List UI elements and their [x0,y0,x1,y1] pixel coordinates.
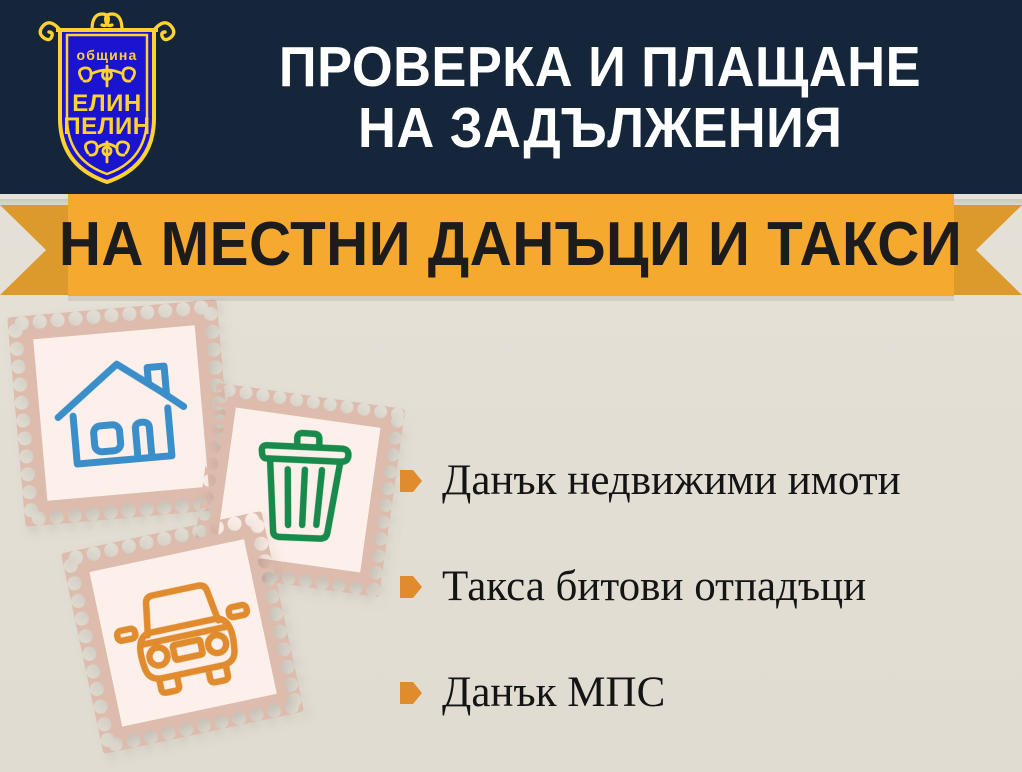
arrow-bullet-icon [400,574,422,600]
header-banner: община ЕЛИН ПЕЛИН [0,0,1022,194]
municipality-logo: община ЕЛИН ПЕЛИН [34,8,180,188]
page-title-line-2: НА ЗАДЪЛЖЕНИЯ [358,98,842,159]
subtitle-ribbon: НА МЕСТНИ ДАНЪЦИ И ТАКСИ [0,194,1022,310]
poster-canvas: община ЕЛИН ПЕЛИН [0,0,1022,772]
coat-of-arms-shield-icon: община ЕЛИН ПЕЛИН [34,8,180,188]
list-item[interactable]: Данък МПС [400,640,1010,746]
list-item[interactable]: Такса битови отпадъци [400,534,1010,640]
arrow-bullet-icon [400,468,422,494]
list-item-label: Данък недвижими имоти [442,457,901,504]
list-item-label: Такса битови отпадъци [442,563,866,610]
stamp-collage [0,300,420,772]
svg-text:община: община [76,47,137,63]
svg-text:ПЕЛИН: ПЕЛИН [63,113,150,140]
list-item-label: Данък МПС [442,669,665,716]
tax-type-list: Данък недвижими имоти Такса битови отпад… [400,428,1010,746]
page-title-line-1: ПРОВЕРКА И ПЛАЩАНЕ [279,37,921,98]
ribbon-band: НА МЕСТНИ ДАНЪЦИ И ТАКСИ [68,194,954,296]
ribbon-label: НА МЕСТНИ ДАНЪЦИ И ТАКСИ [59,214,962,276]
vehicle-stamp-graphic [61,511,304,754]
list-item[interactable]: Данък недвижими имоти [400,428,1010,534]
arrow-bullet-icon [400,680,422,706]
header-title-block: ПРОВЕРКА И ПЛАЩАНЕ НА ЗАДЪЛЖЕНИЯ [190,18,1010,178]
vehicle-stamp [61,511,304,754]
